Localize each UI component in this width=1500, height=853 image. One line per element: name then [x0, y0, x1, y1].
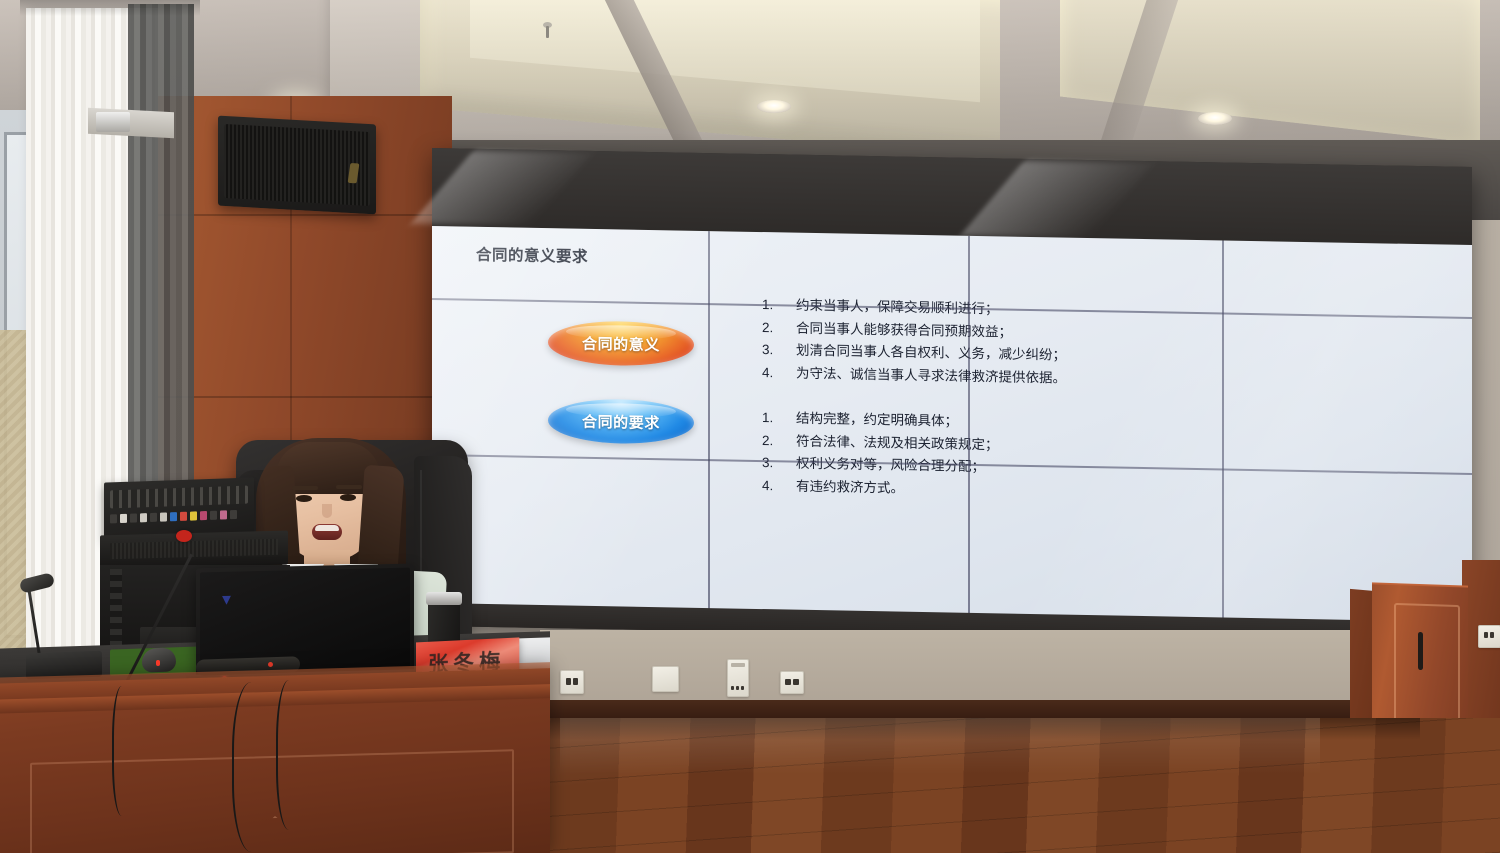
pill-contract-requirements-label: 合同的要求 [582, 410, 660, 432]
list-contract-requirements: 1. 结构完整，约定明确具体； 2. 符合法律、法规及相关政策规定； 3. 权利… [762, 407, 999, 501]
mixer-button[interactable] [180, 511, 187, 520]
mixer-button[interactable] [200, 511, 207, 520]
amplifier-vents [110, 539, 278, 559]
floor-light-reflection [560, 718, 1320, 774]
sprinkler-stem [546, 26, 549, 38]
thermostat-button[interactable] [731, 686, 734, 690]
list-item-number: 4. [762, 475, 796, 498]
mixer-faders[interactable] [110, 486, 248, 509]
list-item: 4. 为守法、诚信当事人寻求法律救济提供依据。 [762, 362, 1066, 390]
mixer-button[interactable] [150, 512, 157, 521]
downlight-3 [1198, 112, 1232, 125]
power-amplifier[interactable] [100, 531, 288, 570]
wall-switch-plate[interactable] [652, 666, 679, 692]
cabinet-door[interactable] [1394, 603, 1460, 735]
handheld-microphone-led [268, 662, 273, 667]
mixer-button[interactable] [140, 513, 147, 522]
mixer-button[interactable] [120, 513, 127, 522]
slide-title: 合同的意义要求 [476, 243, 588, 267]
thermostat-button[interactable] [736, 686, 739, 690]
thermostat-button[interactable] [741, 686, 744, 690]
list-item-text: 有违约救济方式。 [796, 475, 904, 499]
power-outlet-2[interactable] [1478, 625, 1500, 648]
outlet-slot [573, 678, 578, 685]
thermostat-panel[interactable] [727, 659, 749, 697]
mixer-button[interactable] [230, 509, 237, 518]
list-item-number: 1. [762, 407, 796, 430]
wall-speaker [218, 116, 376, 215]
eyebrow-left [292, 486, 318, 490]
laptop-screen[interactable] [200, 568, 410, 673]
list-item-number: 3. [762, 452, 796, 475]
eye-left [296, 495, 312, 502]
list-item-number: 4. [762, 362, 796, 385]
speaker-mount-hardware [96, 112, 130, 132]
teeth [315, 525, 339, 531]
mixer-button[interactable] [220, 510, 227, 519]
list-item-text: 结构完整，约定明确具体； [796, 408, 958, 433]
power-outlet-1[interactable] [560, 670, 584, 694]
presentation-slide[interactable]: 合同的意义要求 合同的意义 合同的要求 1. 约束当事人，保障交易顺利进行； 2… [432, 226, 1472, 623]
data-jack-plate[interactable] [780, 671, 804, 694]
outlet-slot [1484, 632, 1488, 638]
cable-1 [112, 686, 136, 816]
cable-3 [276, 680, 308, 830]
pill-contract-meaning-label: 合同的意义 [582, 332, 660, 354]
nose [322, 504, 332, 518]
cable-2 [232, 682, 280, 852]
video-wall-bezel-vertical-1 [708, 231, 710, 609]
outlet-slot [1490, 632, 1494, 638]
travel-mug-lid[interactable] [426, 592, 462, 605]
list-item-number: 3. [762, 339, 796, 362]
downlight-2 [757, 100, 791, 113]
list-item: 4. 有违约救济方式。 [762, 475, 999, 502]
thermostat-display [731, 663, 745, 667]
outlet-slot [566, 678, 571, 685]
curtain-rod-shadow [20, 0, 200, 16]
mixer-button[interactable] [110, 514, 117, 523]
mixer-button[interactable] [130, 513, 137, 522]
mixer-button[interactable] [190, 511, 197, 520]
mixer-button[interactable] [160, 512, 167, 521]
list-item-number: 2. [762, 317, 796, 340]
data-jack-port [785, 679, 791, 685]
microphone-windscreen [176, 530, 192, 542]
eye-right [340, 494, 356, 501]
mixer-button[interactable] [210, 510, 217, 519]
list-item-text: 为守法、诚信当事人寻求法律救济提供依据。 [796, 362, 1066, 389]
mixer-button[interactable] [170, 512, 177, 521]
mixer-buttons[interactable] [110, 508, 248, 525]
cabinet-handle[interactable] [1418, 632, 1423, 670]
sprinkler-head [543, 22, 552, 38]
video-wall-bezel-vertical-2 [968, 236, 970, 614]
video-wall-bezel-vertical-3 [1222, 240, 1224, 618]
conference-room-photo: 合同的意义要求 合同的意义 合同的要求 1. 约束当事人，保障交易顺利进行； 2… [0, 0, 1500, 853]
eyebrow-right [336, 485, 362, 489]
speaker-grille [224, 124, 370, 206]
data-jack-port [793, 679, 799, 685]
lcd-video-wall[interactable]: 合同的意义要求 合同的意义 合同的要求 1. 约束当事人，保障交易顺利进行； 2… [432, 148, 1472, 645]
list-item-number: 2. [762, 430, 796, 453]
mouse-led [156, 660, 160, 666]
pill-contract-requirements: 合同的要求 [548, 398, 694, 445]
pill-contract-meaning: 合同的意义 [548, 320, 694, 367]
